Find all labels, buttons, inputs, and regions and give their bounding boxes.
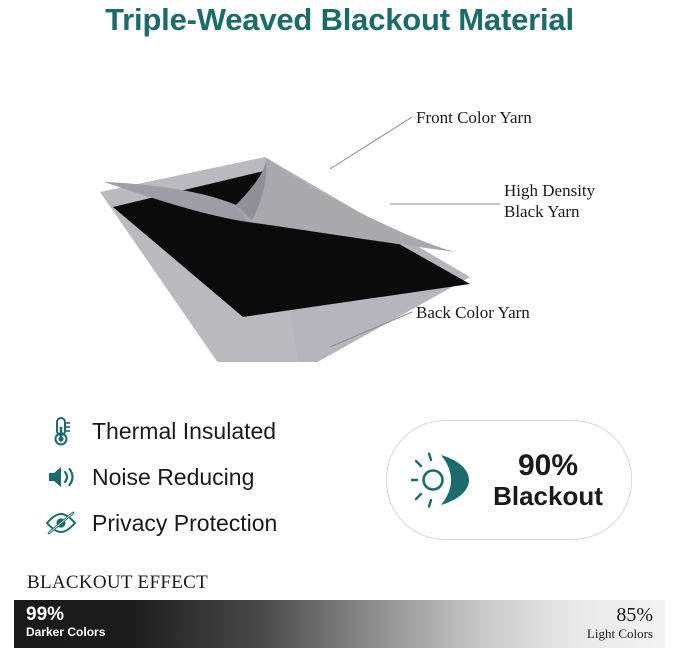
leader-line-front [330, 117, 412, 169]
feature-label: Noise Reducing [92, 464, 254, 491]
blackout-percent: 90% [475, 449, 621, 483]
blackout-word: Blackout [475, 482, 621, 511]
label-high-density-line2: Black Yarn [504, 201, 595, 222]
feature-thermal-insulated: Thermal Insulated [44, 408, 384, 454]
feature-privacy-protection: Privacy Protection [44, 500, 384, 546]
gradient-right-percent: 85% [587, 604, 653, 627]
gradient-left-labels: 99% Darker Colors [26, 604, 105, 640]
eye-off-icon [44, 506, 78, 540]
feature-list: Thermal Insulated Noise Reducing [44, 408, 384, 546]
fabric-layers-diagram: Front Color Yarn High Density Black Yarn… [0, 62, 679, 362]
blackout-badge: 90% Blackout [386, 420, 632, 540]
blackout-effect-title: BLACKOUT EFFECT [27, 572, 208, 594]
label-high-density-line1: High Density [504, 180, 595, 201]
blackout-effect-gradient-bar: 99% Darker Colors 85% Light Colors [14, 600, 665, 648]
page-title: Triple-Weaved Blackout Material [0, 2, 679, 38]
label-high-density-black-yarn: High Density Black Yarn [504, 180, 595, 223]
gradient-left-percent: 99% [26, 604, 105, 626]
blackout-badge-text: 90% Blackout [475, 449, 631, 512]
feature-label: Privacy Protection [92, 510, 277, 537]
thermometer-icon [44, 414, 78, 448]
label-back-color-yarn: Back Color Yarn [416, 302, 530, 323]
label-front-color-yarn: Front Color Yarn [416, 107, 532, 128]
sun-blocked-icon [409, 447, 475, 513]
product-infographic: Triple-Weaved Blackout Material Front Co… [0, 0, 679, 655]
feature-noise-reducing: Noise Reducing [44, 454, 384, 500]
gradient-right-labels: 85% Light Colors [587, 604, 653, 642]
speaker-mute-icon [44, 460, 78, 494]
gradient-left-label: Darker Colors [26, 626, 105, 640]
feature-label: Thermal Insulated [92, 418, 276, 445]
gradient-right-label: Light Colors [587, 627, 653, 642]
leader-dot-high-density [376, 198, 388, 210]
